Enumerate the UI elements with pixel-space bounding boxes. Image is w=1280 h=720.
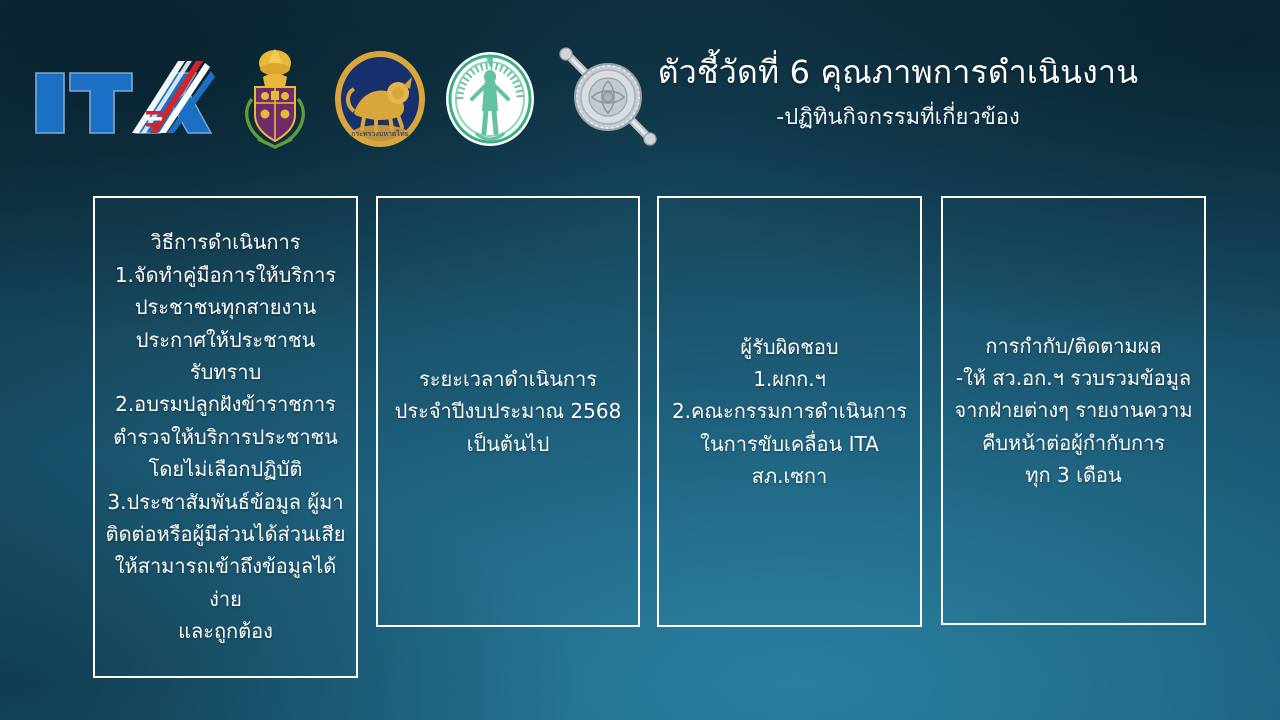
method-box: วิธีการดำเนินการ 1.จัดทำคู่มือการให้บริก… <box>93 196 358 678</box>
duration-box: ระยะเวลาดำเนินการ ประจำปีงบประมาณ 2568 เ… <box>376 196 640 627</box>
duration-box-text: ระยะเวลาดำเนินการ ประจำปีงบประมาณ 2568 เ… <box>386 363 630 460</box>
royal-thai-police-emblem <box>232 47 318 151</box>
logo-strip: กระทรวงมหาดไทย <box>28 44 664 154</box>
responsible-box: ผู้รับผิดชอบ 1.ผกก.ฯ 2.คณะกรรมการดำเนินก… <box>657 196 922 627</box>
svg-text:กระทรวงมหาดไทย: กระทรวงมหาดไทย <box>351 129 408 138</box>
monitoring-box-text: การกำกับ/ติดตามผล -ให้ สว.อก.ฯ รวบรวมข้อ… <box>951 330 1196 492</box>
ministry-singha-emblem: กระทรวงมหาดไทย <box>332 49 428 149</box>
page-subtitle: -ปฏิทินกิจกรรมที่เกี่ยวข้อง <box>648 104 1148 133</box>
provincial-green-seal <box>442 49 538 149</box>
ita-logo <box>28 51 218 147</box>
page-title: ตัวชี้วัดที่ 6 คุณภาพการดำเนินงาน <box>648 52 1148 92</box>
slide-canvas: กระทรวงมหาดไทย <box>0 0 1280 720</box>
monitoring-box: การกำกับ/ติดตามผล -ให้ สว.อก.ฯ รวบรวมข้อ… <box>941 196 1206 625</box>
method-box-text: วิธีการดำเนินการ 1.จัดทำคู่มือการให้บริก… <box>103 226 348 647</box>
responsible-box-text: ผู้รับผิดชอบ 1.ผกก.ฯ 2.คณะกรรมการดำเนินก… <box>667 331 912 493</box>
title-block: ตัวชี้วัดที่ 6 คุณภาพการดำเนินงาน -ปฏิทิ… <box>648 52 1148 133</box>
